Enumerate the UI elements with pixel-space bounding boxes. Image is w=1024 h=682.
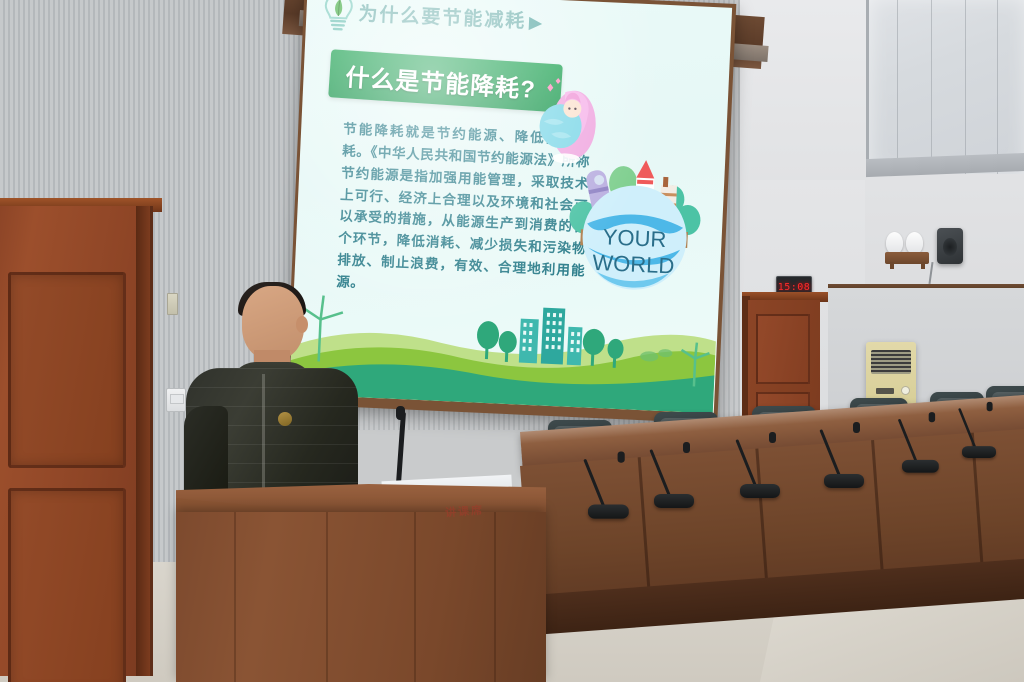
slide-kicker: 为什么要节能减耗▶ — [358, 0, 544, 34]
podium-label: 讲课席 — [444, 502, 484, 521]
led-clock-value: 15:08 — [778, 282, 811, 293]
ac-knob[interactable] — [901, 386, 910, 395]
wall-light-switch[interactable] — [166, 388, 186, 412]
podium-microphone-head — [396, 406, 405, 420]
speaker-cone — [943, 238, 957, 256]
ac-vent — [871, 350, 911, 374]
kicker-triangle-icon: ▶ — [529, 13, 544, 34]
spotlight-left — [886, 232, 903, 254]
presenter-head — [242, 286, 304, 360]
door-sensor — [167, 293, 178, 315]
svg-text:YOUR: YOUR — [602, 224, 667, 252]
slide-banner-title: 什么是节能降耗? — [345, 57, 538, 105]
ac-control-panel[interactable] — [876, 388, 894, 394]
your-world-globe: YOUR WORLD — [556, 142, 715, 299]
wooden-door-left[interactable] — [0, 206, 153, 676]
lightbulb-leaf-icon — [320, 0, 358, 33]
speaker-podium — [176, 512, 546, 682]
spotlight-right — [906, 232, 923, 254]
door-left-edge — [136, 206, 150, 676]
wall-spotlights — [886, 232, 928, 266]
svg-text:WORLD: WORLD — [592, 250, 675, 279]
presenter-ear — [296, 316, 308, 333]
curtained-window — [866, 0, 1024, 174]
wall-mounted-loudspeaker — [937, 228, 963, 264]
conference-room-scene: 为什么要节能减耗▶ 什么是节能降耗? 节能降耗就是节约能源、降低能源消耗。《中华… — [0, 0, 1024, 682]
jacket-logo-badge — [278, 412, 292, 426]
slide-banner: 什么是节能降耗? — [328, 49, 563, 112]
